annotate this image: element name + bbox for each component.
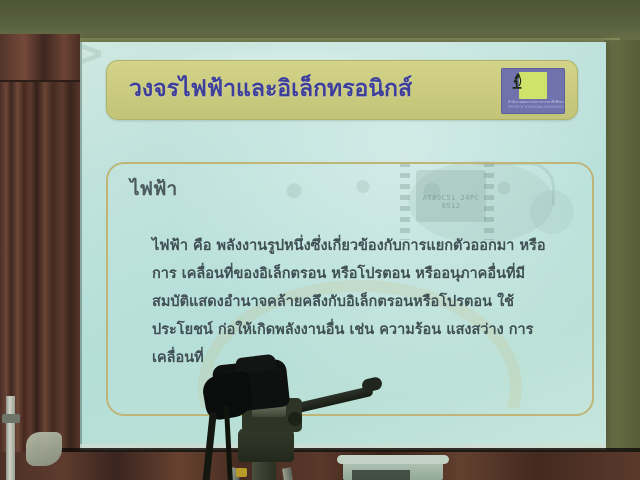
tripod-leg-right	[282, 467, 303, 480]
pole-clamp	[2, 414, 20, 423]
slide-title: วงจรไฟฟ้าและอิเล็กทรอนิกส์	[129, 72, 412, 106]
video-camera-tripod	[196, 356, 376, 480]
strap-clip	[236, 468, 247, 477]
body-line: ไฟฟ้า คือ พลังงานรูปหนึ่งซึ่งเกี่ยวข้องก…	[152, 232, 582, 260]
tripod-pole-left	[6, 396, 15, 480]
body-line: การ เคลื่อนที่ของอิเล็กตรอน หรือโปรตอน ห…	[152, 260, 582, 288]
vertical-watermark-label: VIA	[78, 42, 108, 64]
classroom-scene: AT89C51 24PC 0512 220 V VIA วงจรไฟฟ้าและ…	[0, 0, 640, 480]
body-line: ประโยชน์ ก่อให้เกิดพลังงานอื่น เช่น ความ…	[152, 316, 582, 344]
wall-right	[604, 40, 640, 452]
cloth-left	[26, 432, 62, 466]
slide-body-text: ไฟฟ้า คือ พลังงานรูปหนึ่งซึ่งเกี่ยวข้องก…	[152, 232, 582, 372]
body-line: สมบัติแสดงอำนาจคล้ายคลึงกับอิเล็กตรอนหรื…	[152, 288, 582, 316]
slide-subheading: ไฟฟ้า	[130, 174, 177, 204]
microscope-icon	[511, 72, 523, 91]
logo-green-square	[519, 72, 547, 99]
organization-logo: สำนักงานคณะกรรมการการอาชีวศึกษา OFFICE O…	[501, 68, 565, 114]
slide-title-bar: วงจรไฟฟ้าและอิเล็กทรอนิกส์ สำนักงานคณะกร…	[106, 60, 578, 120]
tripod-head	[238, 428, 294, 462]
logo-caption-line2: OFFICE OF VOCATIONAL EDUCATION COMMISSIO…	[508, 105, 558, 109]
logo-caption-line1: สำนักงานคณะกรรมการการอาชีวศึกษา	[508, 100, 558, 104]
curtain-valance	[0, 34, 80, 82]
tripod-lock-knob	[288, 412, 302, 426]
camera-strap	[202, 412, 216, 480]
